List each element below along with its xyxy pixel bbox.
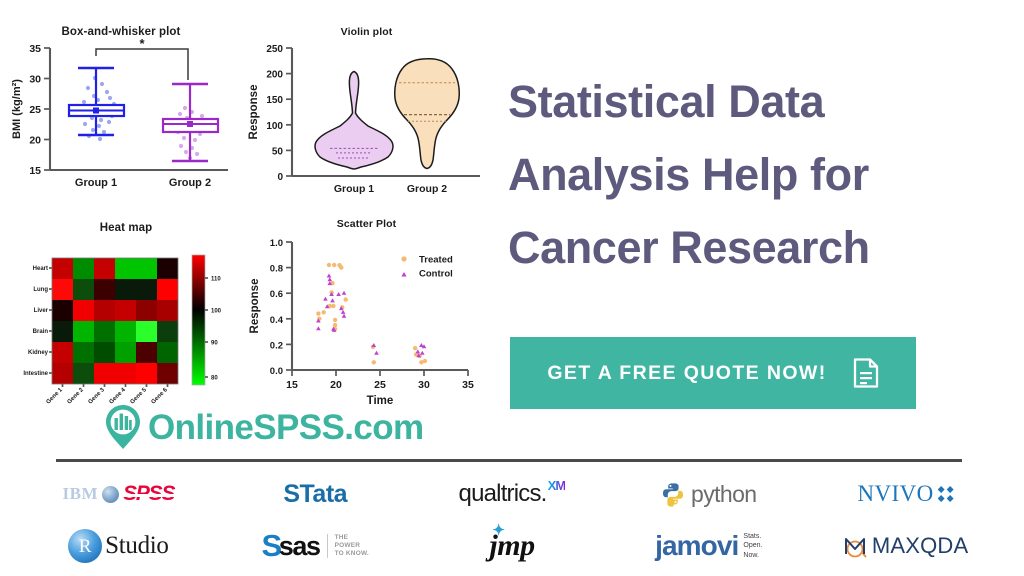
heatmap-col-labels: Gene 1 Gene 2 Gene 3 Gene 4 Gene 5 Gene … <box>46 384 170 406</box>
logo-rstudio: R Studio <box>68 520 169 572</box>
scatter-y-ticks: 1.0 0.8 0.6 0.4 0.2 0.0 <box>270 238 292 377</box>
scatter-y-axis-title: Response <box>249 279 261 334</box>
violin-cat-label-1: Group 1 <box>334 183 374 195</box>
svg-text:110: 110 <box>211 277 221 283</box>
python-snakes-icon <box>661 482 685 506</box>
logo-stata: STata <box>283 468 347 520</box>
svg-text:20: 20 <box>330 379 342 391</box>
svg-text:Gene 4: Gene 4 <box>109 387 128 406</box>
scatter-series-treated <box>316 263 427 365</box>
violin-group-1 <box>315 72 393 170</box>
spss-wordmark: SPSS <box>123 482 174 506</box>
svg-text:Liver: Liver <box>34 308 49 314</box>
svg-text:150: 150 <box>266 95 283 106</box>
logo-maxqda: MAXQDA <box>843 520 969 572</box>
svg-text:15: 15 <box>286 379 298 391</box>
qualtrics-wordmark: qualtrics. <box>459 480 547 508</box>
legend-marker-control <box>401 272 406 277</box>
svg-text:0.6: 0.6 <box>270 289 283 300</box>
legend-label-control: Control <box>419 269 453 280</box>
violin-chart-title: Violin plot <box>244 26 489 38</box>
violin-chart: Violin plot 250 200 150 100 50 <box>244 26 489 201</box>
violin-y-ticks: 250 200 150 100 50 0 <box>266 44 292 183</box>
box-cat-label-1: Group 1 <box>75 177 117 189</box>
box-chart-title: Box-and-whisker plot <box>6 26 236 38</box>
violin-cat-label-2: Group 2 <box>407 183 447 195</box>
heatmap-svg: Heart Lung Liver Brain Kidney Intestine <box>12 237 240 409</box>
heatmap-row-labels: Heart Lung Liver Brain Kidney Intestine <box>23 266 52 377</box>
stata-wordmark: STata <box>283 480 347 509</box>
scatter-x-ticks: 15 20 25 30 35 <box>286 370 474 391</box>
box-group-2 <box>163 84 218 161</box>
rstudio-wordmark: Studio <box>105 532 169 560</box>
svg-text:0.0: 0.0 <box>270 366 283 377</box>
box-group-1 <box>69 68 124 141</box>
box-chart-svg: 35 30 25 20 15 BMI (kg/m²) * <box>6 40 236 198</box>
heatmap-title: Heat map <box>12 222 240 234</box>
svg-text:250: 250 <box>266 44 283 55</box>
violin-chart-svg: 250 200 150 100 50 0 Response <box>244 40 489 200</box>
svg-text:Gene 6: Gene 6 <box>151 387 170 406</box>
software-logo-bar: IBM SPSS STata qualtrics. XM python <box>20 468 1004 572</box>
ibm-globe-icon <box>102 486 119 503</box>
scatter-chart: Scatter Plot 1.0 0.8 0.6 0.4 0.2 <box>244 218 489 408</box>
jamovi-wordmark: jamovi <box>655 530 738 562</box>
scatter-series-control <box>316 274 426 358</box>
get-free-quote-button[interactable]: GET A FREE QUOTE NOW! <box>510 337 916 409</box>
svg-text:20: 20 <box>29 135 41 147</box>
svg-text:0.8: 0.8 <box>270 264 283 275</box>
nvivo-wordmark: NVIVO <box>858 481 934 507</box>
document-page-icon <box>853 358 879 388</box>
jmp-wordmark: ✦ jmp <box>489 529 534 563</box>
scatter-legend: Treated Control <box>401 255 453 280</box>
qualtrics-xm-mark: XM <box>548 478 566 493</box>
svg-text:0.4: 0.4 <box>270 315 284 326</box>
svg-text:35: 35 <box>29 43 41 55</box>
sas-wordmark: sas <box>279 531 320 562</box>
logo-nvivo: NVIVO <box>858 468 954 520</box>
ibm-wordmark: IBM <box>63 484 99 504</box>
logo-jmp: ✦ jmp <box>489 520 534 572</box>
heatmap-colorbar: 110 100 90 80 <box>192 255 222 385</box>
chart-collage: Box-and-whisker plot 35 30 25 20 15 <box>0 0 500 410</box>
location-pin-bar-chart-icon <box>104 404 142 450</box>
svg-text:15: 15 <box>29 165 41 177</box>
logo-jamovi: jamovi Stats. Open. Now. <box>655 520 762 572</box>
legend-label-treated: Treated <box>419 255 453 266</box>
logo-sas: S sas THE POWER TO KNOW. <box>261 520 368 572</box>
heatmap-cells <box>52 258 178 384</box>
brand-logo[interactable]: OnlineSPSS.com <box>104 404 424 450</box>
svg-text:Gene 3: Gene 3 <box>88 387 107 406</box>
legend-marker-treated <box>401 256 406 261</box>
heatmap-chart: Heat map Heart Lung Liver Brain Kidney I… <box>12 222 240 412</box>
box-y-axis-title: BMI (kg/m²) <box>11 79 23 139</box>
svg-text:Kidney: Kidney <box>28 350 49 356</box>
svg-text:0: 0 <box>277 172 283 183</box>
logo-ibm-spss: IBM SPSS <box>63 468 175 520</box>
significance-bracket: * <box>96 36 188 80</box>
brand-name: OnlineSPSS.com <box>148 410 424 445</box>
violin-group-2 <box>395 59 459 169</box>
svg-text:200: 200 <box>266 70 283 81</box>
rstudio-r-icon: R <box>68 529 102 563</box>
cta-label: GET A FREE QUOTE NOW! <box>547 362 826 385</box>
svg-text:Gene 5: Gene 5 <box>130 387 149 406</box>
box-y-ticks: 35 30 25 20 15 <box>29 43 50 177</box>
svg-text:100: 100 <box>211 309 222 315</box>
nvivo-diamonds-icon <box>938 486 954 502</box>
svg-text:100: 100 <box>266 121 283 132</box>
maxqda-wordmark: MAXQDA <box>872 533 969 559</box>
box-cat-label-2: Group 2 <box>169 177 211 189</box>
box-and-whisker-chart: Box-and-whisker plot 35 30 25 20 15 <box>6 26 236 201</box>
svg-text:50: 50 <box>272 146 284 157</box>
svg-text:30: 30 <box>29 74 41 86</box>
svg-text:80: 80 <box>211 376 218 382</box>
section-divider <box>56 459 962 462</box>
svg-text:Intestine: Intestine <box>23 371 48 377</box>
sparkle-icon: ✦ <box>492 521 504 540</box>
jamovi-tagline: Stats. Open. Now. <box>743 532 762 560</box>
logo-qualtrics: qualtrics. XM <box>459 468 566 520</box>
poster-canvas: Box-and-whisker plot 35 30 25 20 15 <box>0 0 1024 576</box>
svg-text:30: 30 <box>418 379 430 391</box>
page-title: Statistical Data Analysis Help for Cance… <box>508 66 958 285</box>
python-wordmark: python <box>691 481 756 508</box>
svg-text:25: 25 <box>374 379 386 391</box>
violin-y-axis-title: Response <box>248 85 260 140</box>
svg-text:0.2: 0.2 <box>270 340 283 351</box>
svg-text:Gene 2: Gene 2 <box>67 387 86 406</box>
scatter-svg: 1.0 0.8 0.6 0.4 0.2 0.0 15 20 25 <box>244 232 489 408</box>
logo-python: python <box>661 468 756 520</box>
scatter-title: Scatter Plot <box>244 218 489 230</box>
svg-text:1.0: 1.0 <box>270 238 283 249</box>
svg-text:90: 90 <box>211 341 218 347</box>
svg-text:Gene 1: Gene 1 <box>46 387 65 406</box>
svg-text:Heart: Heart <box>33 266 48 272</box>
svg-text:Lung: Lung <box>33 287 48 293</box>
svg-text:25: 25 <box>29 104 41 116</box>
svg-text:Brain: Brain <box>33 329 49 335</box>
svg-text:35: 35 <box>462 379 474 391</box>
sas-tagline: THE POWER TO KNOW. <box>327 534 369 559</box>
maxqda-m-icon <box>843 534 868 559</box>
